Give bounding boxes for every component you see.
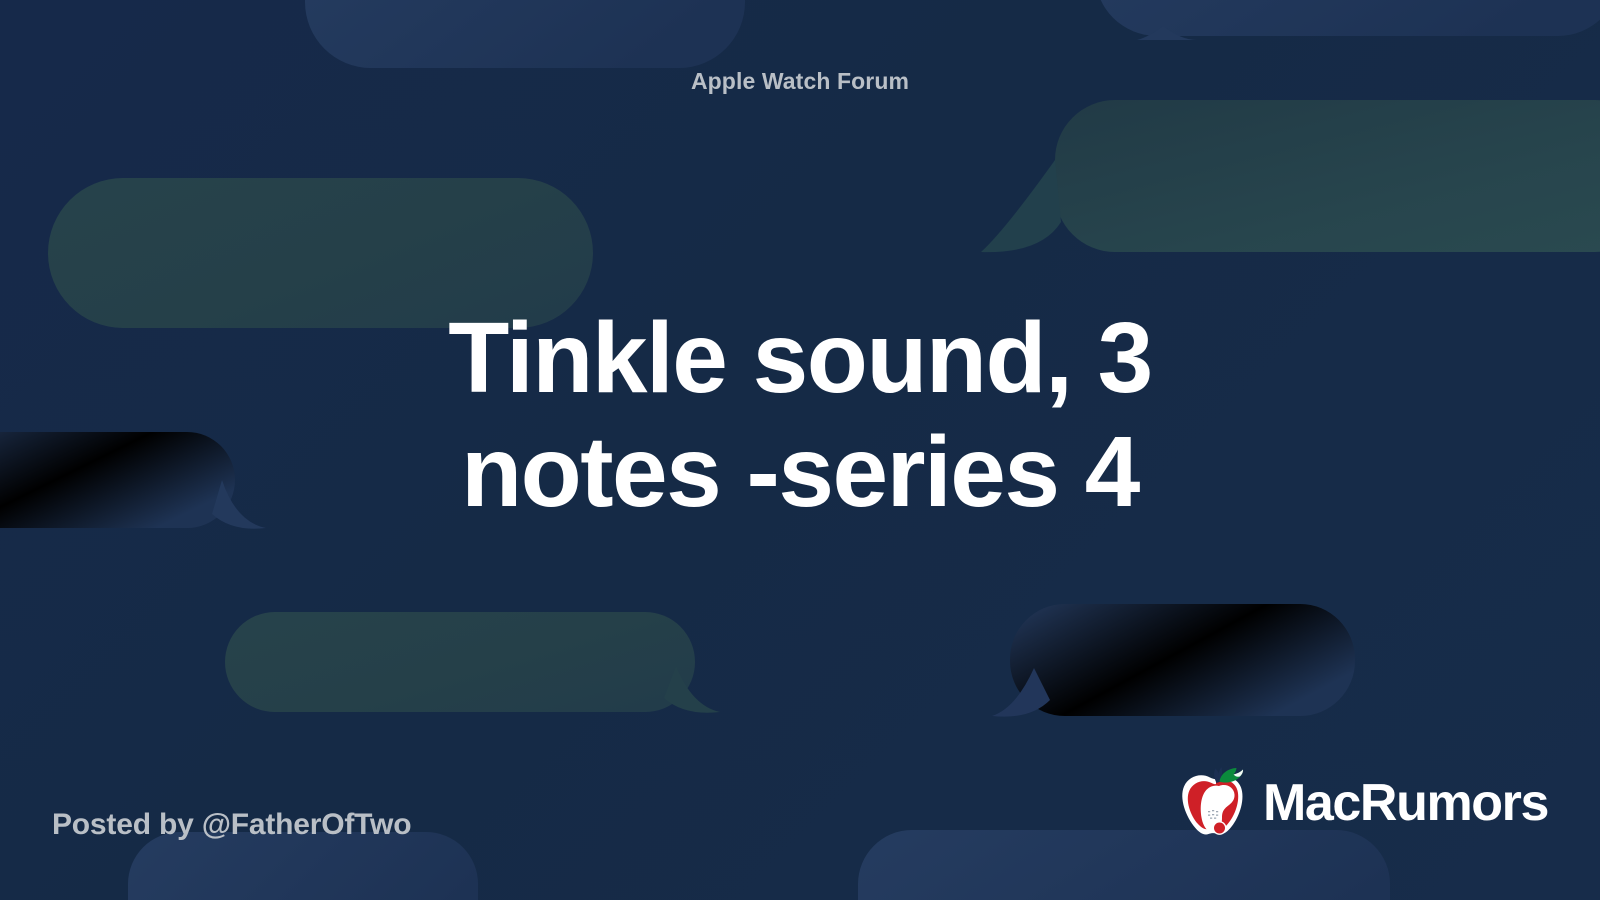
macrumors-wordmark: MacRumors	[1263, 777, 1548, 829]
card-content: Apple Watch Forum Tinkle sound, 3 notes …	[0, 0, 1600, 900]
apple-question-mark-icon	[1172, 762, 1256, 844]
forum-share-card: Apple Watch Forum Tinkle sound, 3 notes …	[0, 0, 1600, 900]
macrumors-logo: MacRumors	[1172, 762, 1548, 844]
posted-by-label: Posted by @FatherOfTwo	[52, 810, 411, 844]
title-container: Tinkle sound, 3 notes -series 4	[52, 67, 1548, 762]
card-footer: Posted by @FatherOfTwo	[52, 762, 1548, 844]
post-title: Tinkle sound, 3 notes -series 4	[370, 301, 1230, 529]
